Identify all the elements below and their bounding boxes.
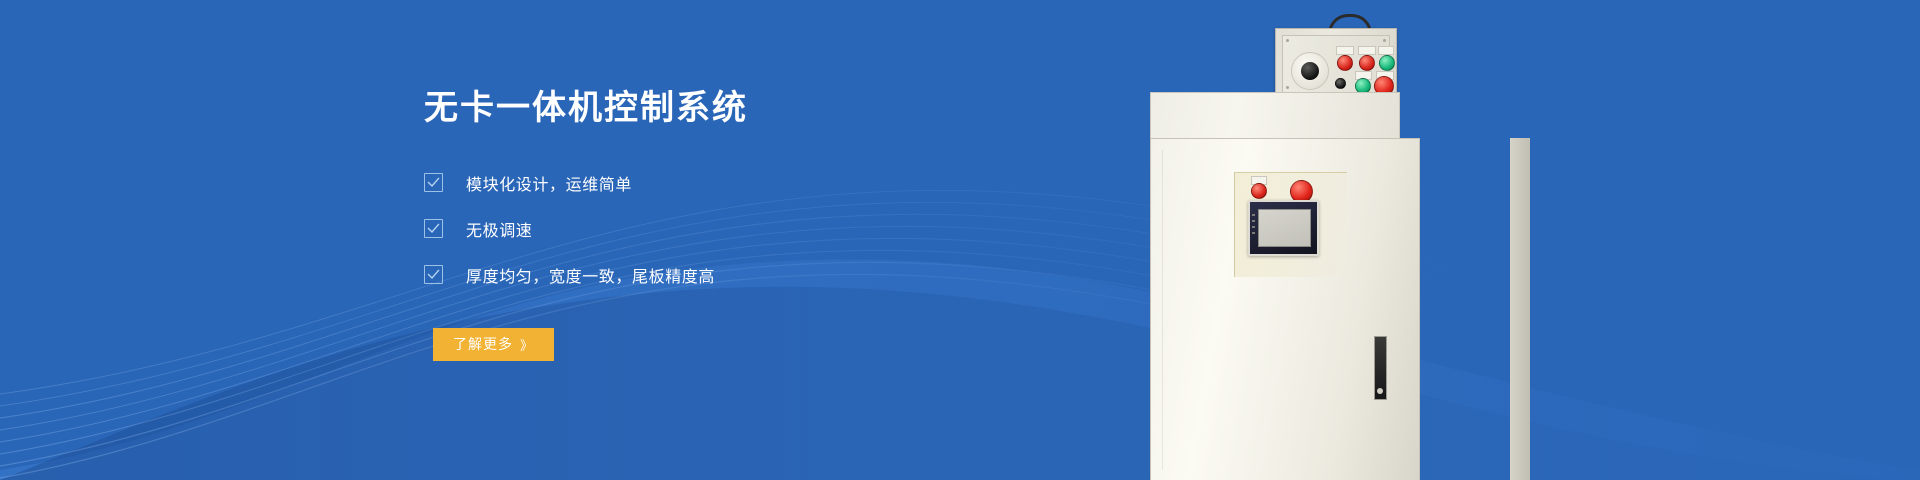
page-title: 无卡一体机控制系统: [424, 88, 904, 129]
cabinet-top-section: [1150, 92, 1400, 142]
product-image: [1150, 0, 1530, 480]
hero-banner: 无卡一体机控制系统 模块化设计，运维简单 无极调速: [0, 0, 1920, 480]
background-wave-decoration: [0, 0, 1920, 480]
feature-label: 模块化设计，运维简单: [466, 171, 632, 195]
list-item: 模块化设计，运维简单: [424, 171, 904, 195]
indicator-button-red-2[interactable]: [1359, 55, 1375, 71]
control-head-panel: [1275, 28, 1397, 100]
screw-icon: [1383, 39, 1386, 42]
indicator-button-green-1[interactable]: [1379, 55, 1395, 71]
chevron-right-double-icon: 》: [520, 335, 534, 354]
rotary-selector-knob[interactable]: [1291, 52, 1329, 90]
head-panel-face: [1282, 35, 1390, 93]
checkbox-checked-icon: [424, 173, 443, 192]
learn-more-button[interactable]: 了解更多 》: [433, 328, 554, 361]
screw-icon: [1286, 39, 1289, 42]
list-item: 无极调速: [424, 217, 904, 241]
hmi-touch-screen[interactable]: [1248, 200, 1319, 256]
button-label-tag: [1378, 46, 1394, 55]
hero-content: 无卡一体机控制系统 模块化设计，运维简单 无极调速: [424, 88, 904, 361]
button-label-tag: [1358, 46, 1376, 55]
cabinet-side-edge: [1510, 138, 1530, 480]
door-button-small-red[interactable]: [1251, 183, 1267, 199]
feature-list: 模块化设计，运维简单 无极调速 厚度均匀，宽度一致，尾板精度高: [424, 171, 904, 287]
checkbox-checked-icon: [424, 219, 443, 238]
indicator-button-red-1[interactable]: [1337, 55, 1353, 71]
feature-label: 无极调速: [466, 217, 532, 241]
learn-more-label: 了解更多: [453, 334, 513, 354]
hmi-function-keys[interactable]: [1252, 214, 1255, 236]
list-item: 厚度均匀，宽度一致，尾板精度高: [424, 263, 904, 287]
feature-label: 厚度均匀，宽度一致，尾板精度高: [466, 263, 715, 287]
lock-vent-slot: [1374, 336, 1387, 400]
screw-icon: [1286, 86, 1289, 89]
hmi-display-area[interactable]: [1258, 209, 1311, 247]
button-label-tag: [1336, 46, 1354, 55]
cabinet-door-seam: [1162, 150, 1163, 470]
checkbox-checked-icon: [424, 265, 443, 284]
indicator-button-dark[interactable]: [1335, 78, 1346, 89]
